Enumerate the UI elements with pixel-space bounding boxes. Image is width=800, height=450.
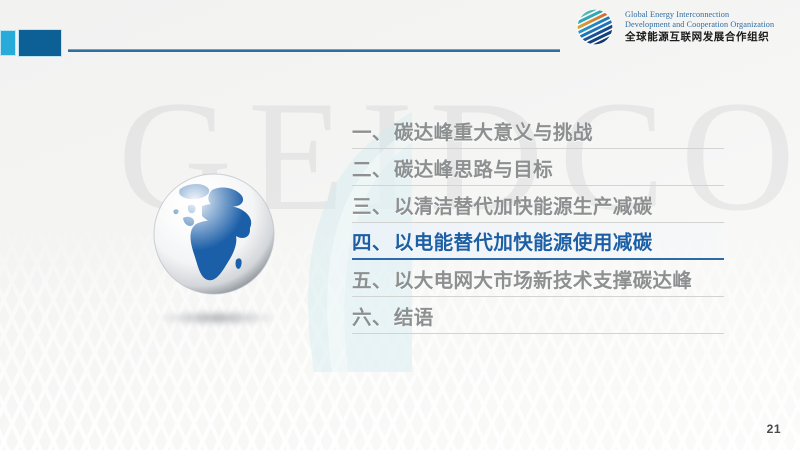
agenda-item-2-number: 二、 <box>352 153 392 182</box>
agenda-item-4-title: 以电能替代加快能源使用减碳 <box>394 226 653 255</box>
logo-english-line1: Global Energy Interconnection <box>625 10 774 20</box>
agenda-item-3-title: 以清洁替代加快能源生产减碳 <box>394 190 653 219</box>
agenda-item-4-number: 四、 <box>352 226 392 255</box>
logo-english-line2: Development and Cooperation Organization <box>625 20 774 30</box>
agenda-item-1-number: 一、 <box>352 116 392 145</box>
agenda-item-2[interactable]: 二、 碳达峰思路与目标 <box>352 149 724 186</box>
agenda-item-5[interactable]: 五、 以大电网大市场新技术支撑碳达峰 <box>352 260 724 297</box>
page-number: 21 <box>767 422 781 436</box>
agenda-item-1-title: 碳达峰重大意义与挑战 <box>394 116 593 145</box>
geidco-globe-logo-icon <box>574 6 616 48</box>
header-marker-small <box>0 30 16 56</box>
agenda-item-6-title: 结语 <box>394 301 434 330</box>
agenda-item-3-number: 三、 <box>352 190 392 219</box>
agenda-item-1[interactable]: 一、 碳达峰重大意义与挑战 <box>352 112 724 149</box>
earth-globe-illustration <box>150 170 286 330</box>
agenda-item-5-title: 以大电网大市场新技术支撑碳达峰 <box>394 264 693 293</box>
logo-text-block: Global Energy Interconnection Developmen… <box>625 10 774 44</box>
agenda-list: 一、 碳达峰重大意义与挑战 二、 碳达峰思路与目标 三、 以清洁替代加快能源生产… <box>352 112 724 334</box>
header-divider-rule <box>68 49 560 52</box>
agenda-item-2-title: 碳达峰思路与目标 <box>394 153 553 182</box>
logo-chinese-name: 全球能源互联网发展合作组织 <box>625 31 774 43</box>
agenda-item-4[interactable]: 四、 以电能替代加快能源使用减碳 <box>352 223 724 260</box>
slide-canvas: GEIDCO <box>0 0 800 450</box>
organization-logo: Global Energy Interconnection Developmen… <box>574 6 774 48</box>
agenda-item-5-number: 五、 <box>352 264 392 293</box>
agenda-item-3[interactable]: 三、 以清洁替代加快能源生产减碳 <box>352 186 724 223</box>
header-marker-large <box>18 29 62 57</box>
globe-drop-shadow <box>158 310 276 326</box>
earth-globe-icon <box>150 170 278 298</box>
agenda-item-6-number: 六、 <box>352 301 392 330</box>
agenda-item-6[interactable]: 六、 结语 <box>352 297 724 334</box>
